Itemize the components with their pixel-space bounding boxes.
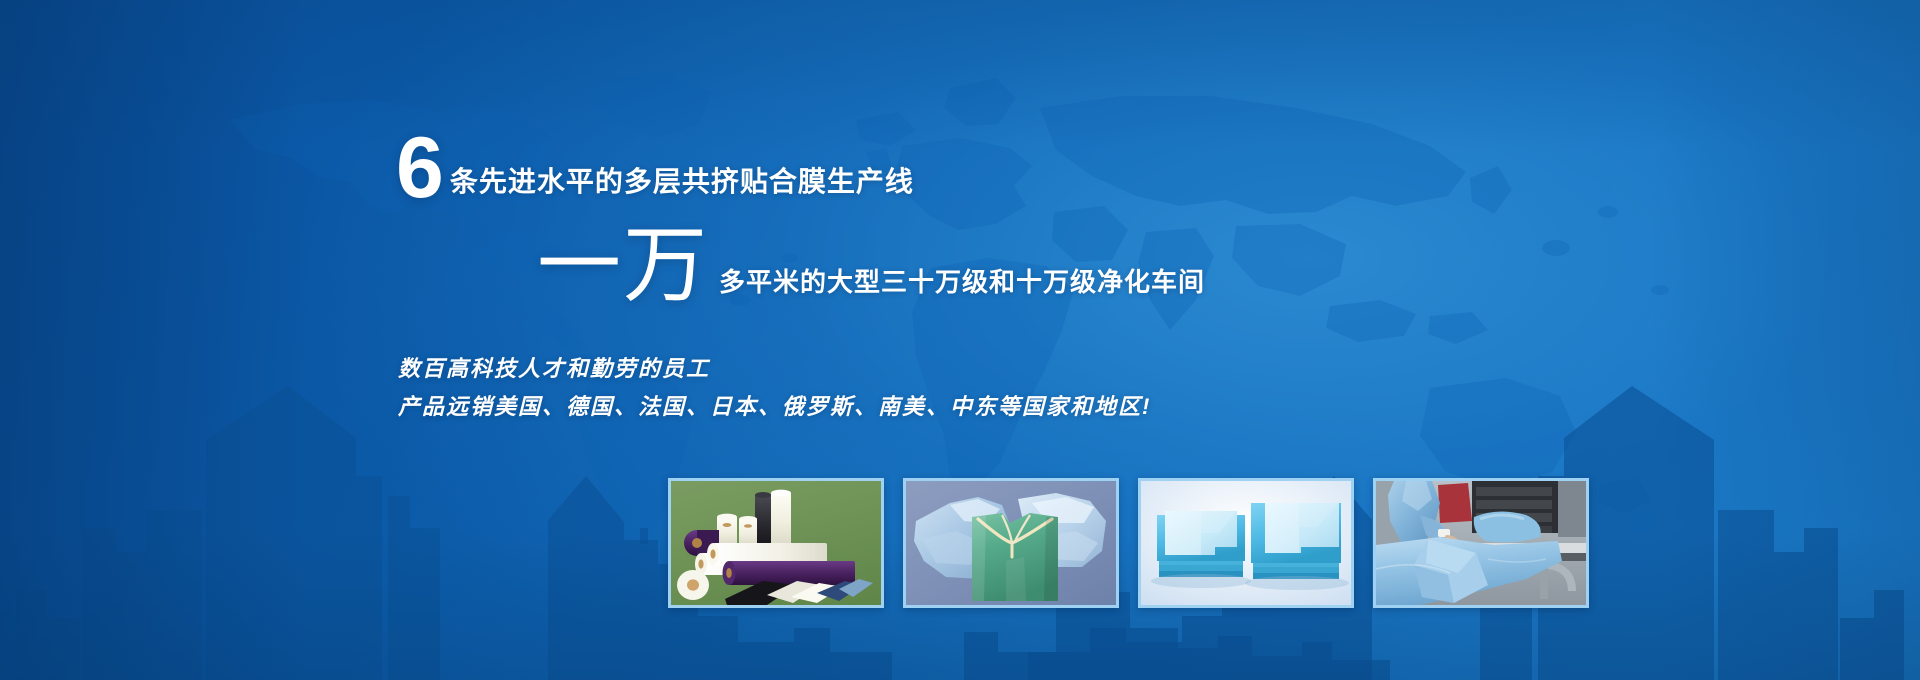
headline-line-2: 一万 多平米的大型三十万级和十万级净化车间 <box>537 226 1205 306</box>
photo-film-rolls <box>671 481 881 605</box>
gallery-item-surgical-drapes[interactable] <box>1373 478 1589 608</box>
headline-line-1: 6 条先进水平的多层共挤贴合膜生产线 <box>396 133 914 204</box>
gallery-item-surgical-gowns[interactable] <box>903 478 1119 608</box>
sub-copy-line-1: 数百高科技人才和勤劳的员工 <box>398 350 1151 388</box>
promo-banner: 6 条先进水平的多层共挤贴合膜生产线 一万 多平米的大型三十万级和十万级净化车间… <box>0 0 1920 680</box>
photo-surgical-drapes <box>1376 481 1586 605</box>
product-gallery <box>668 478 1589 608</box>
stat-label-lines: 条先进水平的多层共挤贴合膜生产线 <box>442 160 914 204</box>
stat-label-area: 多平米的大型三十万级和十万级净化车间 <box>709 262 1205 306</box>
stat-number-area: 一万 <box>537 226 709 306</box>
photo-surgical-pads <box>1141 481 1351 605</box>
photo-surgical-gowns <box>906 481 1116 605</box>
sub-copy-line-2: 产品远销美国、德国、法国、日本、俄罗斯、南美、中东等国家和地区! <box>398 388 1151 426</box>
gallery-item-film-rolls[interactable] <box>668 478 884 608</box>
gallery-item-surgical-pads[interactable] <box>1138 478 1354 608</box>
sub-copy: 数百高科技人才和勤劳的员工 产品远销美国、德国、法国、日本、俄罗斯、南美、中东等… <box>398 350 1151 426</box>
stat-number-lines: 6 <box>396 133 442 204</box>
